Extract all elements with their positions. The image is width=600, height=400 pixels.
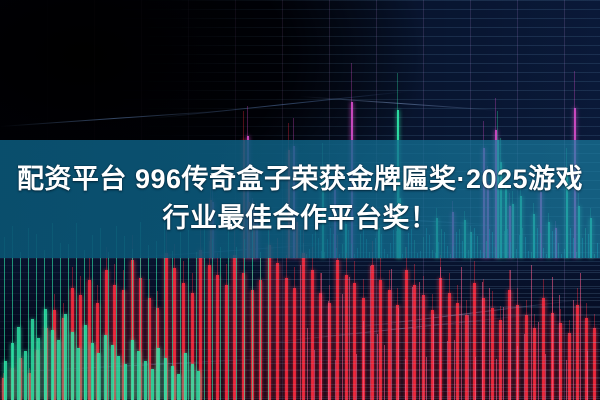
chart-bar (363, 321, 364, 400)
chart-bar (356, 354, 357, 400)
chart-bar (157, 348, 160, 400)
chart-bar (68, 244, 69, 400)
chart-bar (569, 320, 570, 400)
chart-bar (220, 247, 221, 400)
promo-banner-image: 配资平台 996传奇盒子荣获金牌匾奖·2025游戏 行业最佳合作平台奖！ (0, 0, 600, 400)
chart-bar (92, 235, 93, 400)
chart-bar (384, 345, 385, 400)
chart-bar (196, 252, 197, 400)
chart-bar (89, 258, 90, 400)
chart-bar (312, 247, 313, 400)
chart-bar (209, 241, 210, 400)
chart-bar (500, 306, 501, 400)
chart-bar (483, 279, 484, 400)
headline-banner: 配资平台 996传奇盒子荣获金牌匾奖·2025游戏 行业最佳合作平台奖！ (0, 140, 600, 258)
chart-bar (108, 252, 109, 400)
chart-bar (389, 270, 390, 400)
chart-bar (342, 294, 343, 400)
chart-bar (132, 249, 133, 400)
chart-bar (538, 322, 539, 400)
chart-bar (559, 295, 560, 400)
chart-bar (391, 269, 392, 400)
chart-bar (457, 285, 458, 400)
chart-bar (566, 360, 567, 400)
chart-bar (419, 282, 420, 400)
chart-bar (433, 314, 434, 400)
chart-bar (44, 250, 45, 400)
chart-bar (36, 234, 37, 400)
chart-bar (335, 360, 336, 400)
chart-bar (20, 252, 21, 400)
chart-bar (184, 353, 187, 400)
chart-bar (37, 338, 40, 400)
chart-bar (496, 359, 497, 400)
chart-bar (329, 285, 330, 400)
chart-bar (510, 270, 511, 400)
chart-bar (149, 279, 150, 400)
headline-line-2: 行业最佳合作平台奖！ (163, 199, 438, 238)
chart-bar (587, 351, 588, 400)
chart-bar (573, 300, 574, 400)
chart-bar (300, 265, 301, 400)
chart-bar (111, 345, 114, 400)
chart-bar (534, 314, 535, 400)
chart-bar (24, 351, 27, 400)
chart-bar (84, 250, 85, 400)
chart-bar (294, 267, 295, 400)
chart-bar (217, 253, 218, 400)
chart-bar (531, 265, 532, 400)
chart-bar (104, 335, 107, 400)
chart-bar (144, 361, 147, 400)
chart-bar (328, 301, 329, 400)
chart-bar (577, 288, 578, 400)
chart-bar (77, 348, 80, 400)
chart-bar (244, 239, 245, 400)
chart-bar (543, 279, 544, 400)
chart-bar (277, 238, 278, 400)
chart-bar (114, 264, 115, 400)
chart-bar (31, 319, 34, 400)
chart-bar (406, 247, 407, 400)
chart-bar (156, 241, 157, 400)
chart-bar (482, 282, 483, 400)
chart-bar (461, 267, 462, 400)
chart-bar (60, 243, 61, 400)
headline-line-1: 配资平台 996传奇盒子荣获金牌匾奖·2025游戏 (17, 160, 583, 199)
chart-bar (346, 253, 347, 400)
chart-bar (466, 300, 467, 400)
chart-bar (552, 277, 553, 400)
chart-bar (80, 276, 81, 400)
chart-bar (349, 277, 350, 400)
chart-bar (524, 334, 525, 400)
chart-bar (124, 236, 125, 400)
chart-bar (492, 291, 493, 400)
chart-bar (447, 341, 448, 400)
chart-bar (64, 314, 67, 400)
chart-bar (380, 258, 381, 400)
chart-bar (354, 261, 355, 400)
chart-bar (54, 294, 55, 400)
chart-bar (454, 340, 455, 400)
chart-bar (29, 368, 30, 400)
chart-bar (71, 332, 74, 400)
chart-bar (377, 334, 378, 400)
chart-bar (191, 364, 194, 400)
chart-bar (174, 244, 175, 400)
chart-bar (489, 288, 490, 400)
chart-bar (197, 371, 200, 400)
chart-bar (286, 255, 287, 400)
chart-bar (117, 356, 120, 400)
chart-bar (370, 266, 371, 400)
chart-bar (148, 245, 149, 400)
chart-bar (260, 252, 261, 400)
chart-bar (560, 309, 561, 400)
chart-bar (414, 264, 415, 400)
chart-bar (468, 315, 469, 400)
chart-bar (372, 241, 373, 400)
chart-bar (545, 354, 546, 400)
chart-bar (4, 237, 5, 400)
chart-bar (307, 328, 308, 400)
chart-bar (475, 357, 476, 400)
chart-bar (321, 273, 322, 400)
chart-bar (314, 350, 315, 400)
chart-bar (412, 287, 413, 400)
chart-bar (440, 267, 441, 400)
chart-bar (423, 276, 424, 400)
chart-bar (405, 359, 406, 400)
chart-bar (580, 273, 581, 400)
chart-bar (236, 247, 237, 400)
chart-bar (212, 239, 213, 400)
chart-bar (426, 357, 427, 400)
chart-bar (594, 314, 595, 400)
chart-bar (449, 273, 450, 400)
chart-bar (517, 346, 518, 400)
chart-bar (226, 264, 227, 400)
chart-bar (337, 235, 338, 400)
chart-bar (503, 307, 504, 400)
chart-bar (398, 308, 399, 400)
chart-bar (172, 251, 173, 400)
chart-bar (151, 369, 154, 400)
chart-bar (526, 300, 527, 400)
